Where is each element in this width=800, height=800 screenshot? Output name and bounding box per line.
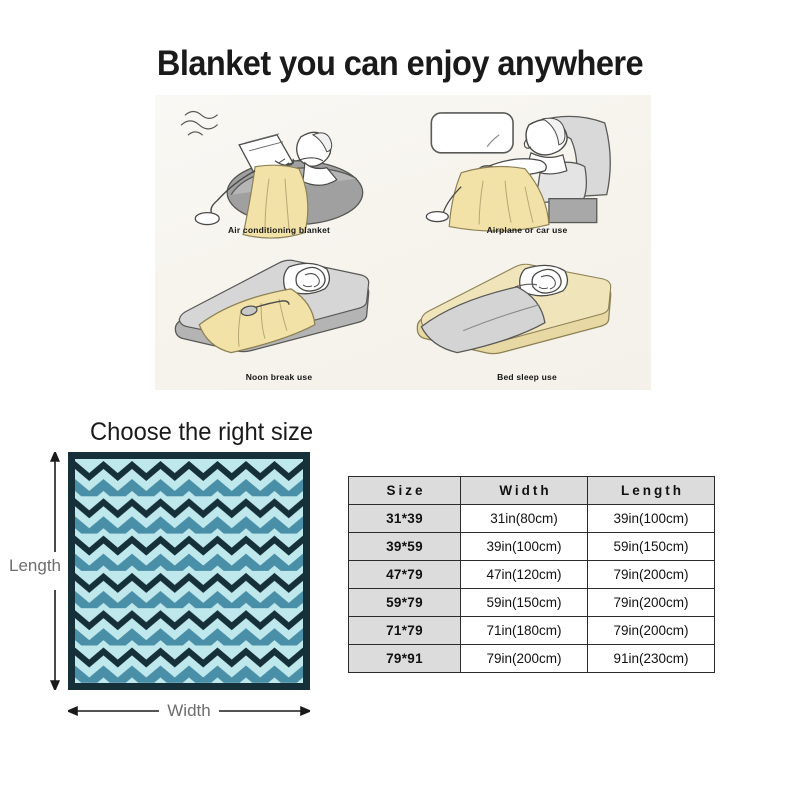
cell-width: 79in(200cm) xyxy=(461,645,588,673)
width-label: Width xyxy=(159,701,219,721)
cell-length: 79in(200cm) xyxy=(588,561,715,589)
person-airplane-seat-icon xyxy=(403,95,651,243)
column-header-size: Size xyxy=(349,477,461,505)
table-row: 31*39 31in(80cm) 39in(100cm) xyxy=(349,505,715,533)
usage-scene-airplane-car: Airplane or car use xyxy=(403,95,651,243)
blanket-size-diagram xyxy=(68,452,310,690)
cell-size: 79*91 xyxy=(349,645,461,673)
cell-size: 59*79 xyxy=(349,589,461,617)
usage-caption: Airplane or car use xyxy=(403,225,659,235)
cell-width: 71in(180cm) xyxy=(461,617,588,645)
size-table: Size Width Length 31*39 31in(80cm) 39in(… xyxy=(348,476,715,673)
column-header-length: Length xyxy=(588,477,715,505)
table-row: 71*79 71in(180cm) 79in(200cm) xyxy=(349,617,715,645)
chevron-pattern xyxy=(75,459,303,683)
cell-width: 31in(80cm) xyxy=(461,505,588,533)
table-row: 47*79 47in(120cm) 79in(200cm) xyxy=(349,561,715,589)
cell-size: 47*79 xyxy=(349,561,461,589)
person-beanbag-reading-icon xyxy=(155,95,403,243)
cell-size: 31*39 xyxy=(349,505,461,533)
usage-illustration-panel: Air conditioning blanket Airp xyxy=(155,95,651,390)
usage-caption: Air conditioning blanket xyxy=(155,225,425,235)
cell-width: 59in(150cm) xyxy=(461,589,588,617)
cell-length: 79in(200cm) xyxy=(588,589,715,617)
cell-width: 47in(120cm) xyxy=(461,561,588,589)
cell-width: 39in(100cm) xyxy=(461,533,588,561)
cell-length: 91in(230cm) xyxy=(588,645,715,673)
cell-size: 71*79 xyxy=(349,617,461,645)
cell-length: 59in(150cm) xyxy=(588,533,715,561)
cell-length: 39in(100cm) xyxy=(588,505,715,533)
length-label: Length xyxy=(2,556,68,576)
column-header-width: Width xyxy=(461,477,588,505)
table-header-row: Size Width Length xyxy=(349,477,715,505)
usage-scene-noon-break: Noon break use xyxy=(155,243,403,391)
person-napping-mat-icon xyxy=(155,243,403,391)
usage-scene-air-conditioning: Air conditioning blanket xyxy=(155,95,403,243)
table-row: 39*59 39in(100cm) 59in(150cm) xyxy=(349,533,715,561)
cell-size: 39*59 xyxy=(349,533,461,561)
usage-scene-bed-sleep: Bed sleep use xyxy=(403,243,651,391)
size-section-heading: Choose the right size xyxy=(90,418,313,447)
person-sleeping-bed-icon xyxy=(403,243,651,391)
page-title: Blanket you can enjoy anywhere xyxy=(28,44,772,84)
cell-length: 79in(200cm) xyxy=(588,617,715,645)
usage-caption: Bed sleep use xyxy=(403,372,699,382)
table-row: 59*79 59in(150cm) 79in(200cm) xyxy=(349,589,715,617)
table-row: 79*91 79in(200cm) 91in(230cm) xyxy=(349,645,715,673)
